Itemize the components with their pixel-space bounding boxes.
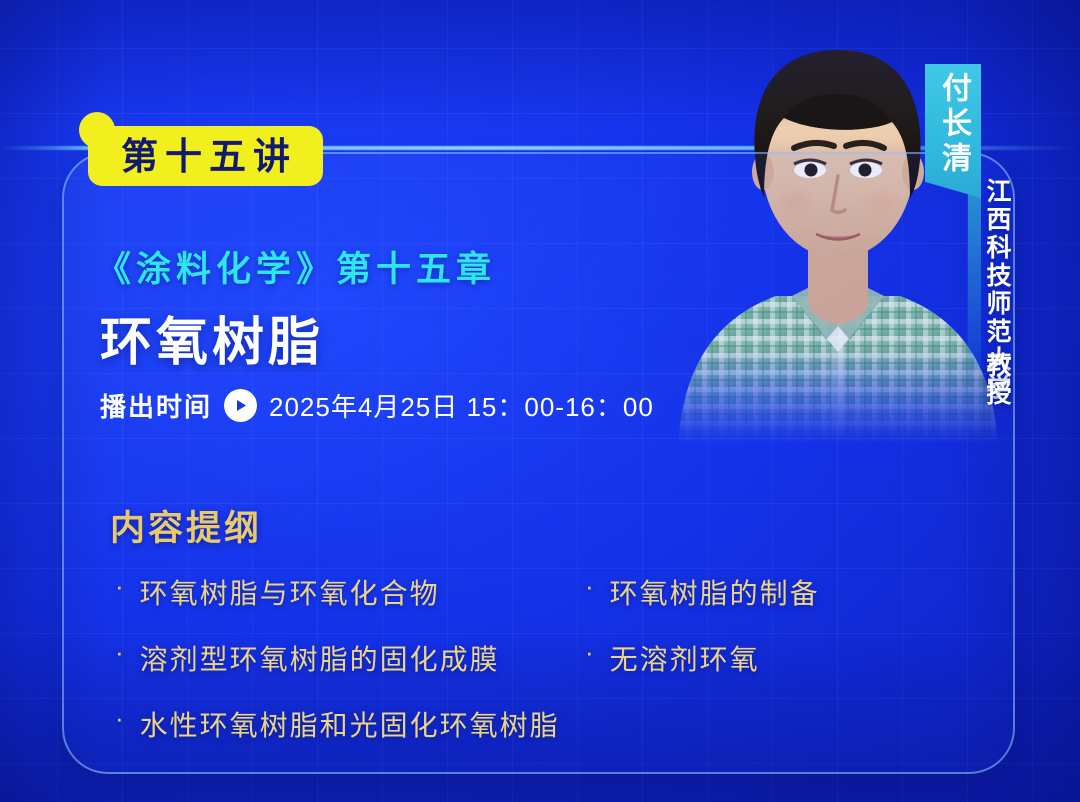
speaker-role: 教授 xyxy=(984,352,1009,408)
list-item: · 溶剂型环氧树脂的固化成膜 xyxy=(115,638,585,678)
bullet-icon: · xyxy=(585,638,596,667)
list-item: · 环氧树脂的制备 xyxy=(585,572,915,612)
list-item: · 无溶剂环氧 xyxy=(585,638,915,678)
outline-heading: 内容提纲 xyxy=(110,500,262,551)
broadcast-label: 播出时间 xyxy=(100,387,212,424)
bullet-icon: · xyxy=(115,704,126,733)
broadcast-row: 播出时间 2025年4月25日 15：00-16：00 xyxy=(100,387,654,424)
course-subtitle: 《涂料化学》第十五章 xyxy=(96,241,496,292)
list-item-label: 无溶剂环氧 xyxy=(610,638,760,678)
list-item-label: 水性环氧树脂和光固化环氧树脂 xyxy=(140,704,560,744)
lecture-number-badge: 第十五讲 xyxy=(88,126,323,186)
page-title: 环氧树脂 xyxy=(100,300,324,375)
lecture-number-label: 第十五讲 xyxy=(114,138,297,175)
speaker-name-ribbon: 付长清 xyxy=(925,64,981,198)
outline-list: · 环氧树脂与环氧化合物 · 环氧树脂的制备 · 溶剂型环氧树脂的固化成膜 · … xyxy=(115,572,915,744)
list-item: · 水性环氧树脂和光固化环氧树脂 xyxy=(115,704,915,744)
list-item-label: 环氧树脂与环氧化合物 xyxy=(140,572,440,612)
bullet-icon: · xyxy=(115,638,126,667)
list-item-label: 溶剂型环氧树脂的固化成膜 xyxy=(140,638,500,678)
broadcast-time: 2025年4月25日 15：00-16：00 xyxy=(269,387,654,424)
speaker-name: 付长清 xyxy=(938,72,968,177)
list-item: · 环氧树脂与环氧化合物 xyxy=(115,572,585,612)
bullet-icon: · xyxy=(585,572,596,601)
list-item-label: 环氧树脂的制备 xyxy=(610,572,820,612)
play-icon[interactable] xyxy=(224,389,257,422)
speaker-ribbon-tail xyxy=(968,190,981,380)
bullet-icon: · xyxy=(115,572,126,601)
